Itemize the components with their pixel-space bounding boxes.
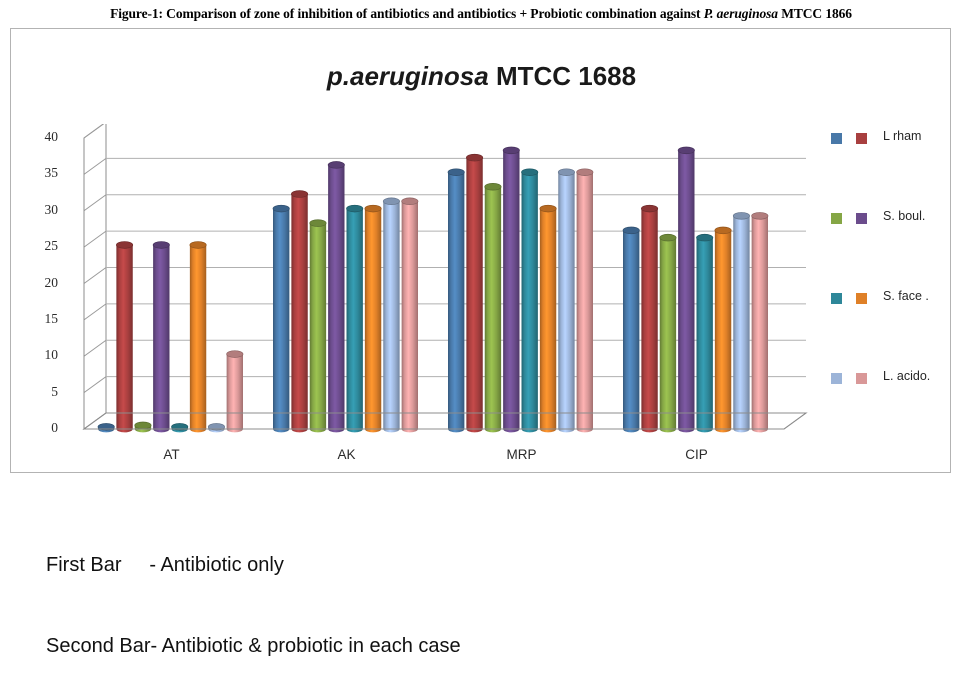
bar-body <box>660 238 676 433</box>
chart-container: p.aeruginosa MTCC 1688 0510152025303540A… <box>10 28 951 473</box>
chart-title-rest: MTCC 1688 <box>489 61 636 91</box>
y-axis-tick-label: 5 <box>24 384 58 400</box>
bar-top-cap <box>116 242 132 249</box>
bar-body <box>310 223 326 432</box>
legend-swatch-first-bar <box>831 213 842 224</box>
bar-body <box>540 209 556 433</box>
plot-area: 0510152025303540ATAKMRPCIP <box>66 124 811 454</box>
bar-body <box>641 209 657 433</box>
bar-body <box>328 165 344 432</box>
bar-top-cap <box>577 169 593 176</box>
legend-item[interactable]: S. boul. <box>829 209 954 229</box>
bar-top-cap <box>715 227 731 234</box>
bar-body <box>558 172 574 432</box>
legend-swatch-second-bar <box>856 293 867 304</box>
bar[interactable] <box>540 205 556 432</box>
bar-body <box>383 201 399 432</box>
bar[interactable] <box>623 227 639 432</box>
bar[interactable] <box>383 198 399 433</box>
bar[interactable] <box>227 351 243 433</box>
bar[interactable] <box>153 242 169 433</box>
figure-caption: Figure-1: Comparison of zone of inhibiti… <box>0 6 962 22</box>
bar-body <box>116 245 132 432</box>
x-axis-tick-label: MRP <box>462 447 582 462</box>
bars-group <box>98 147 768 432</box>
bar-top-cap <box>402 198 418 205</box>
legend-label: S. face . <box>883 289 929 303</box>
x-axis-tick-label: CIP <box>637 447 757 462</box>
bar-body <box>503 150 519 432</box>
y-axis-tick-label: 20 <box>24 275 58 291</box>
bar[interactable] <box>402 198 418 433</box>
legend-label: S. boul. <box>883 209 925 223</box>
legend-swatch-second-bar <box>856 373 867 384</box>
bar-top-cap <box>227 351 243 358</box>
bar-body <box>485 187 501 433</box>
legend-swatch-first-bar <box>831 373 842 384</box>
bar-top-cap <box>291 191 307 198</box>
bar[interactable] <box>135 422 151 432</box>
legend-swatch-second-bar <box>856 133 867 144</box>
y-axis-tick-label: 40 <box>24 129 58 145</box>
bar-body <box>190 245 206 432</box>
bar-body <box>448 172 464 432</box>
bar[interactable] <box>310 220 326 433</box>
bar[interactable] <box>466 154 482 432</box>
bar-top-cap <box>190 242 206 249</box>
bar-body <box>752 216 768 433</box>
bar[interactable] <box>558 169 574 433</box>
legend-item[interactable]: L. acido. <box>829 369 954 389</box>
bar-top-cap <box>485 183 501 190</box>
bar[interactable] <box>733 212 749 432</box>
bar[interactable] <box>752 212 768 432</box>
bar-top-cap <box>540 205 556 212</box>
bar-body <box>466 158 482 433</box>
bar-top-cap <box>660 234 676 241</box>
figure-caption-species: P. aeruginosa <box>704 6 778 21</box>
chart-legend: L rhamS. boul.S. face .L. acido. <box>829 129 949 449</box>
bar-body <box>522 172 538 432</box>
bar-body <box>365 209 381 433</box>
chart-title: p.aeruginosa MTCC 1688 <box>11 61 952 92</box>
bar[interactable] <box>273 205 289 432</box>
bar[interactable] <box>98 423 114 432</box>
bar-top-cap <box>466 154 482 161</box>
bar-body <box>291 194 307 432</box>
bar[interactable] <box>116 242 132 433</box>
bar[interactable] <box>715 227 731 432</box>
bar-top-cap <box>153 242 169 249</box>
bar-body <box>678 150 694 432</box>
bar-body <box>273 209 289 433</box>
bar[interactable] <box>347 205 363 432</box>
footnote: First Bar - Antibiotic only Second Bar- … <box>46 498 461 687</box>
legend-label: L. acido. <box>883 369 930 383</box>
bar[interactable] <box>660 234 676 432</box>
bar-top-cap <box>733 212 749 219</box>
y-axis-tick-label: 15 <box>24 311 58 327</box>
bar-top-cap <box>558 169 574 176</box>
legend-label: L rham <box>883 129 921 143</box>
bar[interactable] <box>291 191 307 433</box>
bar-body <box>577 172 593 432</box>
bar[interactable] <box>172 423 188 432</box>
bar[interactable] <box>190 242 206 433</box>
bar-top-cap <box>641 205 657 212</box>
bar[interactable] <box>577 169 593 433</box>
x-axis-tick-label: AT <box>112 447 232 462</box>
y-axis-tick-label: 0 <box>24 420 58 436</box>
bar-body <box>402 201 418 432</box>
bar[interactable] <box>365 205 381 432</box>
bar-chart-svg <box>66 124 811 454</box>
bar-body <box>623 230 639 432</box>
bar[interactable] <box>678 147 694 432</box>
legend-swatch-first-bar <box>831 133 842 144</box>
bar-body <box>697 238 713 433</box>
y-axis-tick-label: 25 <box>24 238 58 254</box>
bar-top-cap <box>383 198 399 205</box>
bar-body <box>347 209 363 433</box>
bar-top-cap <box>310 220 326 227</box>
x-axis-tick-label: AK <box>287 447 407 462</box>
bar[interactable] <box>208 423 224 432</box>
legend-item[interactable]: S. face . <box>829 289 954 309</box>
bar[interactable] <box>641 205 657 432</box>
y-axis-tick-label: 10 <box>24 347 58 363</box>
figure-caption-pre: Figure-1: Comparison of zone of inhibiti… <box>110 6 704 21</box>
legend-item[interactable]: L rham <box>829 129 954 149</box>
bar-top-cap <box>623 227 639 234</box>
chart-title-species: p.aeruginosa <box>327 61 489 91</box>
figure-caption-post: MTCC 1866 <box>778 6 852 21</box>
plot-left-wall <box>84 124 106 429</box>
bar-body <box>153 245 169 432</box>
bar[interactable] <box>697 234 713 432</box>
bar-body <box>733 216 749 433</box>
bar[interactable] <box>328 162 344 433</box>
bar-top-cap <box>365 205 381 212</box>
bar-top-cap <box>522 169 538 176</box>
y-axis-tick-label: 35 <box>24 165 58 181</box>
footnote-line-2: Second Bar- Antibiotic & probiotic in ea… <box>46 633 461 660</box>
bar-top-cap <box>503 147 519 154</box>
bar-body <box>715 230 731 432</box>
bar-top-cap <box>135 422 151 429</box>
bar[interactable] <box>448 169 464 433</box>
bar[interactable] <box>503 147 519 432</box>
bar-body <box>227 354 243 432</box>
bar-top-cap <box>347 205 363 212</box>
bar-top-cap <box>752 212 768 219</box>
bar-top-cap <box>678 147 694 154</box>
bar-top-cap <box>448 169 464 176</box>
legend-swatch-first-bar <box>831 293 842 304</box>
bar[interactable] <box>522 169 538 433</box>
bar[interactable] <box>485 183 501 432</box>
bar-top-cap <box>697 234 713 241</box>
bar-top-cap <box>273 205 289 212</box>
y-axis-tick-label: 30 <box>24 202 58 218</box>
bar-top-cap <box>328 162 344 169</box>
legend-swatch-second-bar <box>856 213 867 224</box>
